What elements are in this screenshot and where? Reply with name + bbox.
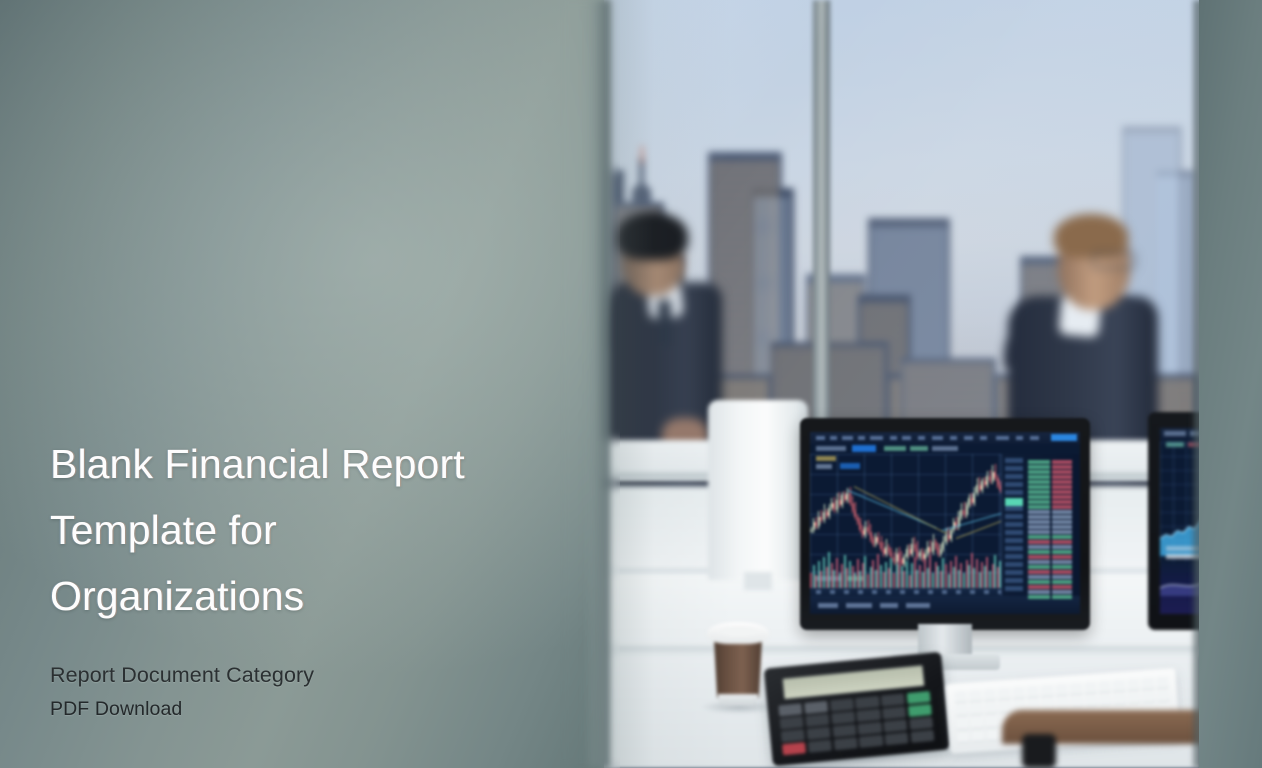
download-label: PDF Download (50, 694, 570, 724)
title-line-1: Blank Financial Report (50, 431, 570, 497)
slide-canvas: Blank Financial Report Template for Orga… (0, 0, 1262, 768)
trading-chart-screen (810, 432, 1080, 614)
chart-status-badge (1051, 434, 1077, 441)
right-wall-panel (1199, 0, 1262, 768)
white-monitor (708, 400, 808, 580)
glasses-icon (1092, 252, 1136, 269)
title-line-3: Organizations (50, 563, 570, 629)
office-chair (998, 700, 1200, 768)
title-line-2: Template for (50, 497, 570, 563)
coffee-cup (710, 622, 766, 708)
document-category: Report Document Category (50, 658, 570, 692)
calculator (764, 652, 951, 767)
trading-monitor (800, 418, 1090, 630)
price-ladder-panel (1001, 454, 1080, 596)
wall-edge-shadow (584, 0, 610, 768)
page-title: Blank Financial Report Template for Orga… (50, 431, 570, 629)
slide-copy: Blank Financial Report Template for Orga… (50, 404, 570, 724)
office-photo (600, 0, 1200, 768)
